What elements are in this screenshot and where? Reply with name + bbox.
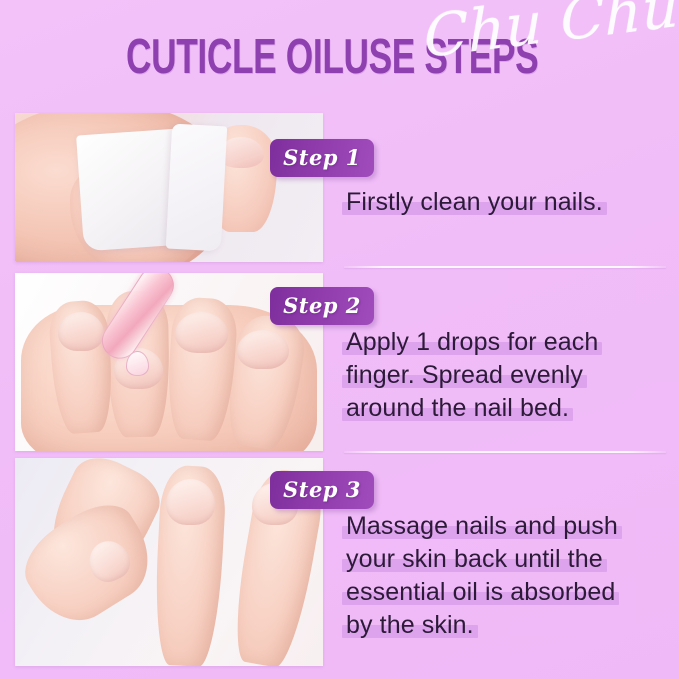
step-2-text: Apply 1 drops for each finger. Spread ev… xyxy=(346,326,665,425)
section-divider-2 xyxy=(344,451,666,453)
infographic-page: CUTICLE OILUSE STEPS Chu Chu Step 1 Firs… xyxy=(0,0,679,679)
section-divider-1 xyxy=(344,266,666,268)
step-2-line-1: Apply 1 drops for each xyxy=(346,326,665,359)
header: CUTICLE OILUSE STEPS Chu Chu xyxy=(0,0,679,106)
step-3-line-1: Massage nails and push xyxy=(346,510,665,543)
step-1-text: Firstly clean your nails. xyxy=(346,186,665,219)
step-block-2: Step 2 Apply 1 drops for each finger. Sp… xyxy=(0,270,679,452)
step-1-badge-label: Step 1 xyxy=(270,139,374,177)
cotton-pad-fold-shape xyxy=(166,124,228,252)
page-title: CUTICLE OILUSE STEPS xyxy=(126,32,538,82)
step-3-line-3: essential oil is absorbed xyxy=(346,576,665,609)
fingernail-shape xyxy=(175,312,227,353)
step-3-line-4: by the skin. xyxy=(346,609,665,642)
step-1-line-1: Firstly clean your nails. xyxy=(346,186,665,219)
step-block-3: Step 3 Massage nails and push your skin … xyxy=(0,455,679,667)
step-3-badge-label: Step 3 xyxy=(270,471,374,509)
step-2-badge: Step 2 xyxy=(270,287,374,325)
step-3-text: Massage nails and push your skin back un… xyxy=(346,510,665,642)
step-block-1: Step 1 Firstly clean your nails. xyxy=(0,110,679,265)
step-1-badge: Step 1 xyxy=(270,139,374,177)
step-2-line-3: around the nail bed. xyxy=(346,392,665,425)
step-3-badge: Step 3 xyxy=(270,471,374,509)
step-2-line-2: finger. Spread evenly xyxy=(346,359,665,392)
fingernail-shape xyxy=(58,312,104,351)
step-1-photo xyxy=(15,113,323,262)
fingernail-shape xyxy=(166,479,215,525)
step-2-badge-label: Step 2 xyxy=(270,287,374,325)
step-3-line-2: your skin back until the xyxy=(346,543,665,576)
oil-droplet-shape xyxy=(126,351,150,376)
fingernail-shape xyxy=(237,330,289,369)
